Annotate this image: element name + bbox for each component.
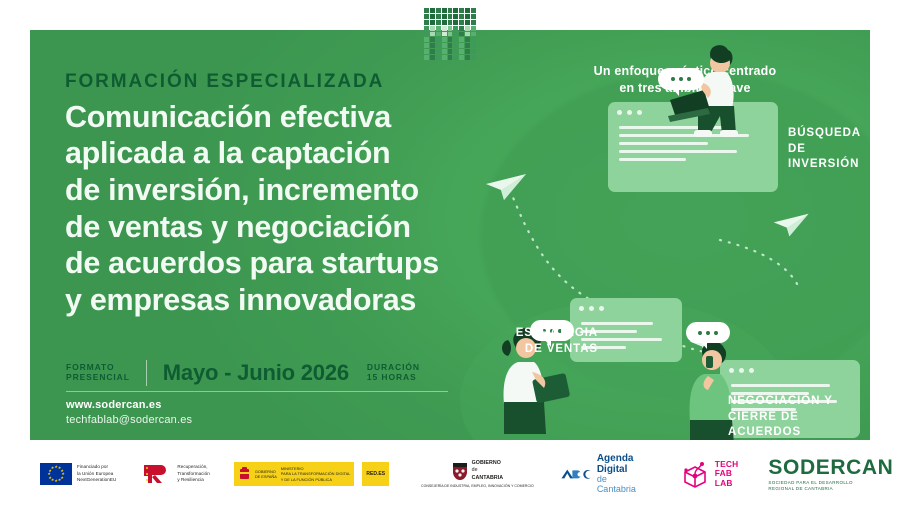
headline-line: y empresas innovadoras: [65, 282, 505, 319]
label-line-2: DE INVERSIÓN: [788, 142, 870, 173]
duration-value: 15 HORAS: [367, 373, 420, 383]
cantabria-line-3: CANTABRIA: [472, 475, 504, 483]
logo-european-union: ★★★★★★★★★★★★ Financiado por la Unión Eur…: [40, 463, 116, 485]
adc-line-1: Agenda Digital: [597, 454, 648, 475]
ministerio-text: MINISTERIO PARA LA TRANSFORMACIÓN DIGITA…: [281, 466, 351, 482]
label-line-1: BÚSQUEDA: [788, 126, 870, 142]
left-text-column: FORMACIÓN ESPECIALIZADA Comunicación efe…: [65, 72, 505, 318]
eu-logo-text: Financiado por la Unión Europea NextGene…: [77, 464, 116, 484]
eyebrow-label: FORMACIÓN ESPECIALIZADA: [65, 72, 505, 93]
chat-bubble-icon: [686, 322, 730, 343]
ministerio-line-3: Y DE LA FUNCIÓN PÚBLICA: [281, 477, 351, 482]
tech-fab-lab-cube-icon: [680, 459, 710, 489]
meta-divider: [146, 360, 147, 386]
logo-tech-fab-lab: TECH FAB LAB: [680, 459, 739, 489]
chat-bubble-icon: [658, 68, 704, 90]
cantabria-line-1: GOBIERNO: [472, 460, 504, 468]
eu-flag-icon: ★★★★★★★★★★★★: [40, 463, 72, 485]
pixel-grid-motif-icon: [424, 8, 476, 60]
headline-line: aplicada a la captación: [65, 135, 505, 172]
label-line-2: DE VENTAS: [468, 342, 598, 358]
tech-fab-lab-text: TECH FAB LAB: [715, 460, 739, 488]
label-line-2: CIERRE DE ACUERDOS: [728, 410, 870, 440]
window-dots-icon: [617, 110, 642, 115]
illustration-column: Un enfoque práctico centrado en tres ámb…: [470, 30, 870, 440]
window-dots-icon: [579, 306, 604, 311]
prtr-line-1: Recuperación,: [177, 464, 209, 471]
sodercan-text-block: SODERCAN SOCIEDAD PARA EL DESARROLLO REG…: [768, 457, 893, 492]
headline-line: de ventas y negociación: [65, 209, 505, 246]
cantabria-wordmark: GOBIERNO de CANTABRIA: [472, 460, 504, 483]
cantabria-shield-icon: [452, 461, 468, 481]
paper-plane-icon: [772, 210, 812, 240]
cantabria-consejeria: CONSEJERÍA DE INDUSTRIA, EMPLEO, INNOVAC…: [421, 484, 534, 488]
es-line-2: DE ESPAÑA: [255, 474, 277, 479]
logo-plan-recuperacion: Recuperación, Transformación y Resilienc…: [142, 462, 209, 486]
cantabria-top-row: GOBIERNO de CANTABRIA: [452, 460, 504, 483]
red-es-badge: RED.ES: [362, 462, 389, 486]
logo-gobierno-de-cantabria: GOBIERNO de CANTABRIA CONSEJERÍA DE INDU…: [421, 460, 534, 488]
footer-logo-bar: ★★★★★★★★★★★★ Financiado por la Unión Eur…: [0, 442, 900, 505]
person-with-laptop-illustration: [648, 38, 768, 168]
ministerio-line-2: PARA LA TRANSFORMACIÓN DIGITAL: [281, 471, 351, 476]
logo-gobierno-de-espana: GOBIERNO DE ESPAÑA MINISTERIO PARA LA TR…: [234, 462, 389, 486]
headline-line: de acuerdos para startups: [65, 245, 505, 282]
adc-mark-icon: [560, 464, 592, 484]
tfl-line-3: LAB: [715, 479, 739, 488]
label-busqueda-de-inversion: BÚSQUEDA DE INVERSIÓN: [788, 126, 870, 173]
plan-recuperacion-text: Recuperación, Transformación y Resilienc…: [177, 464, 209, 484]
email-address[interactable]: techfablab@sodercan.es: [66, 413, 192, 428]
paper-plane-icon: [484, 170, 530, 204]
cantabria-line-2: de: [472, 467, 504, 475]
page-title: Comunicación efectiva aplicada a la capt…: [65, 99, 505, 319]
format-block: FORMATO PRESENCIAL: [66, 363, 130, 383]
sodercan-tagline: SOCIEDAD PARA EL DESARROLLO REGIONAL DE …: [768, 480, 893, 492]
format-value: PRESENCIAL: [66, 373, 130, 383]
duration-block: DURACIÓN 15 HORAS: [367, 363, 420, 383]
plan-recuperacion-icon: [142, 462, 172, 486]
green-panel: FORMACIÓN ESPECIALIZADA Comunicación efe…: [30, 30, 870, 440]
headline-line: de inversión, incremento: [65, 172, 505, 209]
spain-coat-of-arms-icon: [238, 466, 251, 482]
label-line-1: NEGOCIACIÓN Y: [728, 394, 870, 410]
logo-sodercan: SODERCAN SOCIEDAD PARA EL DESARROLLO REG…: [768, 457, 900, 492]
contact-block: www.sodercan.es techfablab@sodercan.es: [66, 398, 192, 428]
eu-line-3: NextGenerationEU: [77, 477, 116, 484]
adc-line-2: de Cantabria: [597, 475, 648, 494]
headline-line: Comunicación efectiva: [65, 99, 505, 136]
sodercan-wordmark: SODERCAN: [768, 457, 893, 478]
course-dates: Mayo - Junio 2026: [163, 360, 349, 386]
meta-horizontal-rule: [66, 391, 448, 392]
label-line-1: ESTRATEGIA: [468, 326, 598, 342]
website-url[interactable]: www.sodercan.es: [66, 398, 192, 413]
adc-text: Agenda Digital de Cantabria: [597, 454, 648, 494]
red-es-text: RED.ES: [366, 471, 385, 478]
label-estrategia-de-ventas: ESTRATEGIA DE VENTAS: [468, 326, 598, 357]
cantabria-logo-stack: GOBIERNO de CANTABRIA CONSEJERÍA DE INDU…: [421, 460, 534, 488]
poster-root: FORMACIÓN ESPECIALIZADA Comunicación efe…: [0, 0, 900, 505]
course-meta-row: FORMATO PRESENCIAL Mayo - Junio 2026 DUR…: [66, 360, 466, 386]
label-negociacion-cierre-acuerdos: NEGOCIACIÓN Y CIERRE DE ACUERDOS: [728, 394, 870, 440]
sodercan-sub-2: REGIONAL DE CANTABRIA: [768, 486, 893, 492]
gobierno-espana-block: GOBIERNO DE ESPAÑA MINISTERIO PARA LA TR…: [234, 462, 355, 486]
prtr-line-3: y Resiliencia: [177, 477, 209, 484]
logo-agenda-digital-cantabria: Agenda Digital de Cantabria: [560, 454, 648, 494]
gobierno-espana-text: GOBIERNO DE ESPAÑA: [255, 469, 277, 480]
logo-row: ★★★★★★★★★★★★ Financiado por la Unión Eur…: [40, 449, 870, 499]
